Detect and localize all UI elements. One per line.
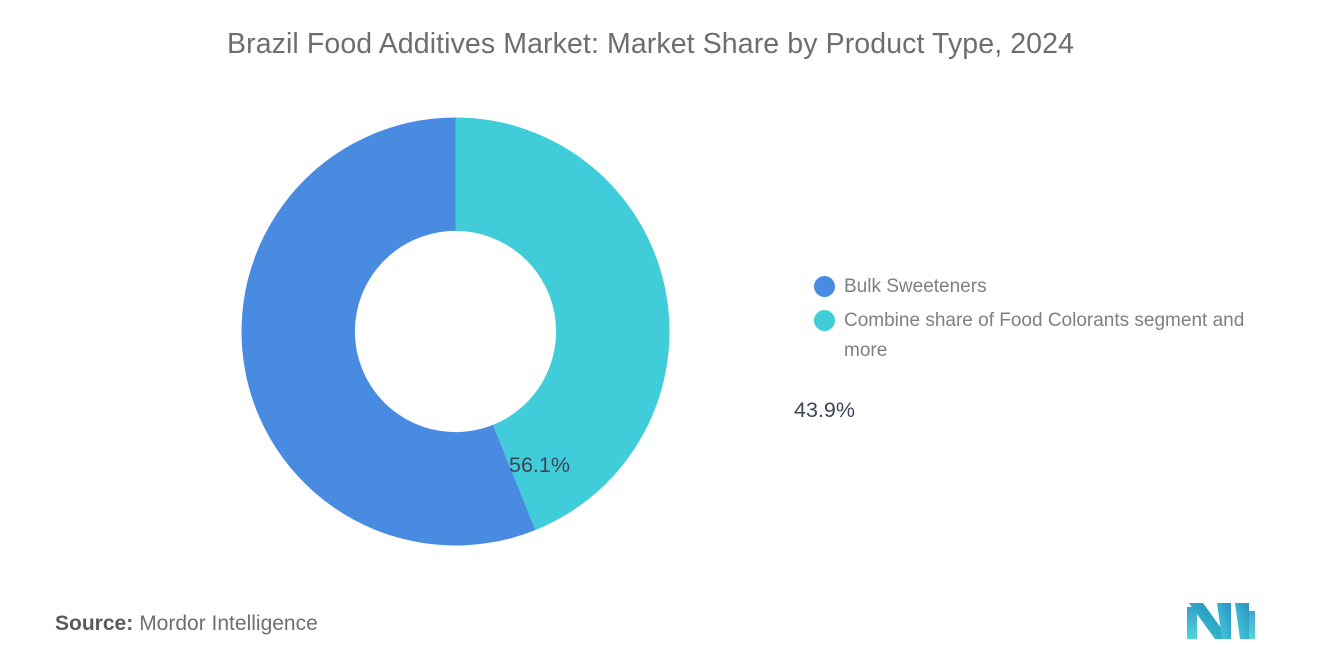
legend-item-combine-share[interactable]: Combine share of Food Colorants segment … xyxy=(814,306,1294,366)
legend-item-label: Combine share of Food Colorants segment … xyxy=(844,306,1276,366)
donut-slice-label-combine-share: 43.9% xyxy=(794,398,855,423)
chart-figure: Brazil Food Additives Market: Market Sha… xyxy=(0,0,1320,665)
source-value: Mordor Intelligence xyxy=(139,612,318,635)
chart-title: Brazil Food Additives Market: Market Sha… xyxy=(227,28,1074,61)
donut-chart: 56.1% 43.9% xyxy=(228,104,683,559)
donut-slice-label-bulk-sweeteners: 56.1% xyxy=(509,453,570,478)
chart-legend: Bulk Sweeteners Combine share of Food Co… xyxy=(814,272,1294,370)
legend-color-swatch-icon xyxy=(814,276,835,297)
donut-chart-svg xyxy=(228,104,683,559)
legend-item-bulk-sweeteners[interactable]: Bulk Sweeteners xyxy=(814,272,1294,302)
source-attribution: Source:Mordor Intelligence xyxy=(55,612,318,636)
donut-slices xyxy=(241,118,669,546)
legend-color-swatch-icon xyxy=(814,310,835,331)
mordor-intelligence-logo xyxy=(1185,597,1257,641)
legend-item-label: Bulk Sweeteners xyxy=(844,272,987,302)
source-label: Source: xyxy=(55,612,133,635)
